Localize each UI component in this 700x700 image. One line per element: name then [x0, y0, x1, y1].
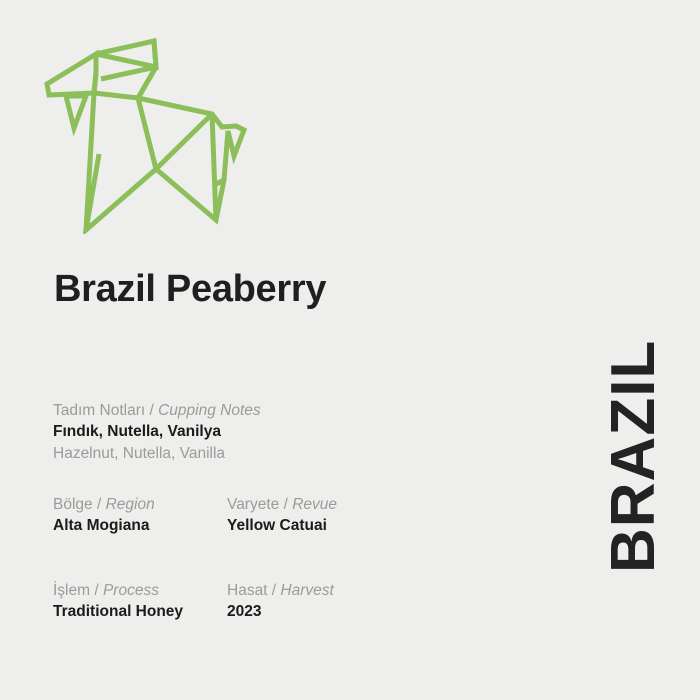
variety-block: Varyete / Revue Yellow Catuai — [227, 494, 427, 537]
region-label-tr: Bölge — [53, 496, 93, 513]
cupping-notes-block: Tadım Notları / Cupping Notes Fındık, Nu… — [53, 400, 433, 465]
harvest-label-tr: Hasat — [227, 582, 268, 599]
cupping-notes-label: Tadım Notları / Cupping Notes — [53, 400, 433, 421]
process-value: Traditional Honey — [53, 601, 227, 623]
region-value: Alta Mogiana — [53, 515, 227, 537]
cupping-notes-label-tr: Tadım Notları — [53, 402, 145, 419]
region-block: Bölge / Region Alta Mogiana — [53, 494, 227, 537]
cupping-notes-label-en: Cupping Notes — [158, 402, 261, 419]
country-vertical-label: BRAZIL — [601, 337, 667, 573]
variety-label: Varyete / Revue — [227, 494, 427, 515]
label-separator: / — [90, 582, 103, 599]
variety-value: Yellow Catuai — [227, 515, 427, 537]
variety-label-tr: Varyete — [227, 496, 279, 513]
process-harvest-row: İşlem / Process Traditional Honey Hasat … — [53, 580, 433, 623]
variety-label-en: Revue — [292, 496, 337, 513]
process-label: İşlem / Process — [53, 580, 227, 601]
coffee-label-card: Brazil Peaberry BRAZIL Tadım Notları / C… — [0, 0, 700, 700]
cupping-notes-value-tr: Fındık, Nutella, Vanilya — [53, 421, 433, 443]
origami-goat-icon — [44, 34, 266, 234]
region-label-en: Region — [106, 496, 155, 513]
section-spacer — [53, 465, 433, 494]
label-separator: / — [93, 496, 106, 513]
details-section: Tadım Notları / Cupping Notes Fındık, Nu… — [53, 400, 433, 623]
region-label: Bölge / Region — [53, 494, 227, 515]
cupping-notes-value-en: Hazelnut, Nutella, Vanilla — [53, 443, 433, 465]
page-title: Brazil Peaberry — [54, 268, 326, 311]
harvest-block: Hasat / Harvest 2023 — [227, 580, 427, 623]
section-spacer — [53, 537, 433, 580]
harvest-label: Hasat / Harvest — [227, 580, 427, 601]
region-variety-row: Bölge / Region Alta Mogiana Varyete / Re… — [53, 494, 433, 537]
label-separator: / — [279, 496, 292, 513]
label-separator: / — [268, 582, 281, 599]
harvest-value: 2023 — [227, 601, 427, 623]
process-label-tr: İşlem — [53, 582, 90, 599]
label-separator: / — [145, 402, 158, 419]
process-block: İşlem / Process Traditional Honey — [53, 580, 227, 623]
process-label-en: Process — [103, 582, 159, 599]
harvest-label-en: Harvest — [280, 582, 333, 599]
